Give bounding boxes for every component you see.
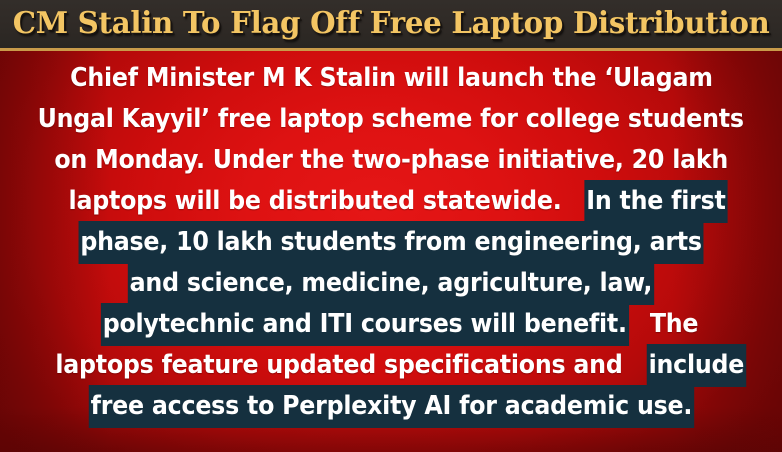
article-line: polytechnic and ITI courses will benefit…: [0, 304, 782, 345]
text-segment: laptops will be distributed statewide.: [69, 181, 562, 222]
highlighted-text-segment: include: [647, 345, 744, 386]
headline-bar: CM Stalin To Flag Off Free Laptop Distri…: [0, 0, 782, 51]
highlighted-text-segment: In the first: [585, 181, 726, 222]
highlighted-text-segment: and science, medicine, agriculture, law,: [129, 263, 653, 304]
text-segment: Ungal Kayyil’ free laptop scheme for col…: [38, 99, 744, 140]
article-line: laptops feature updated specifications a…: [0, 345, 782, 386]
article-line: laptops will be distributed statewide. I…: [0, 181, 782, 222]
highlighted-text-segment: free access to Perplexity AI for academi…: [89, 386, 692, 427]
headline-text: CM Stalin To Flag Off Free Laptop Distri…: [13, 9, 770, 39]
highlighted-text-segment: polytechnic and ITI courses will benefit…: [102, 304, 628, 345]
text-segment: Chief Minister M K Stalin will launch th…: [70, 58, 713, 99]
article-line: Ungal Kayyil’ free laptop scheme for col…: [0, 99, 782, 140]
article-line: phase, 10 lakh students from engineering…: [0, 222, 782, 263]
highlighted-text-segment: phase, 10 lakh students from engineering…: [79, 222, 702, 263]
article-line: on Monday. Under the two-phase initiativ…: [0, 140, 782, 181]
article-body: Chief Minister M K Stalin will launch th…: [0, 58, 782, 427]
news-card-poster: CM Stalin To Flag Off Free Laptop Distri…: [0, 0, 782, 452]
text-segment: on Monday. Under the two-phase initiativ…: [54, 140, 728, 181]
article-line: and science, medicine, agriculture, law,: [0, 263, 782, 304]
text-segment: The: [650, 304, 698, 345]
text-segment: laptops feature updated specifications a…: [55, 345, 622, 386]
article-line: free access to Perplexity AI for academi…: [0, 386, 782, 427]
article-line: Chief Minister M K Stalin will launch th…: [0, 58, 782, 99]
